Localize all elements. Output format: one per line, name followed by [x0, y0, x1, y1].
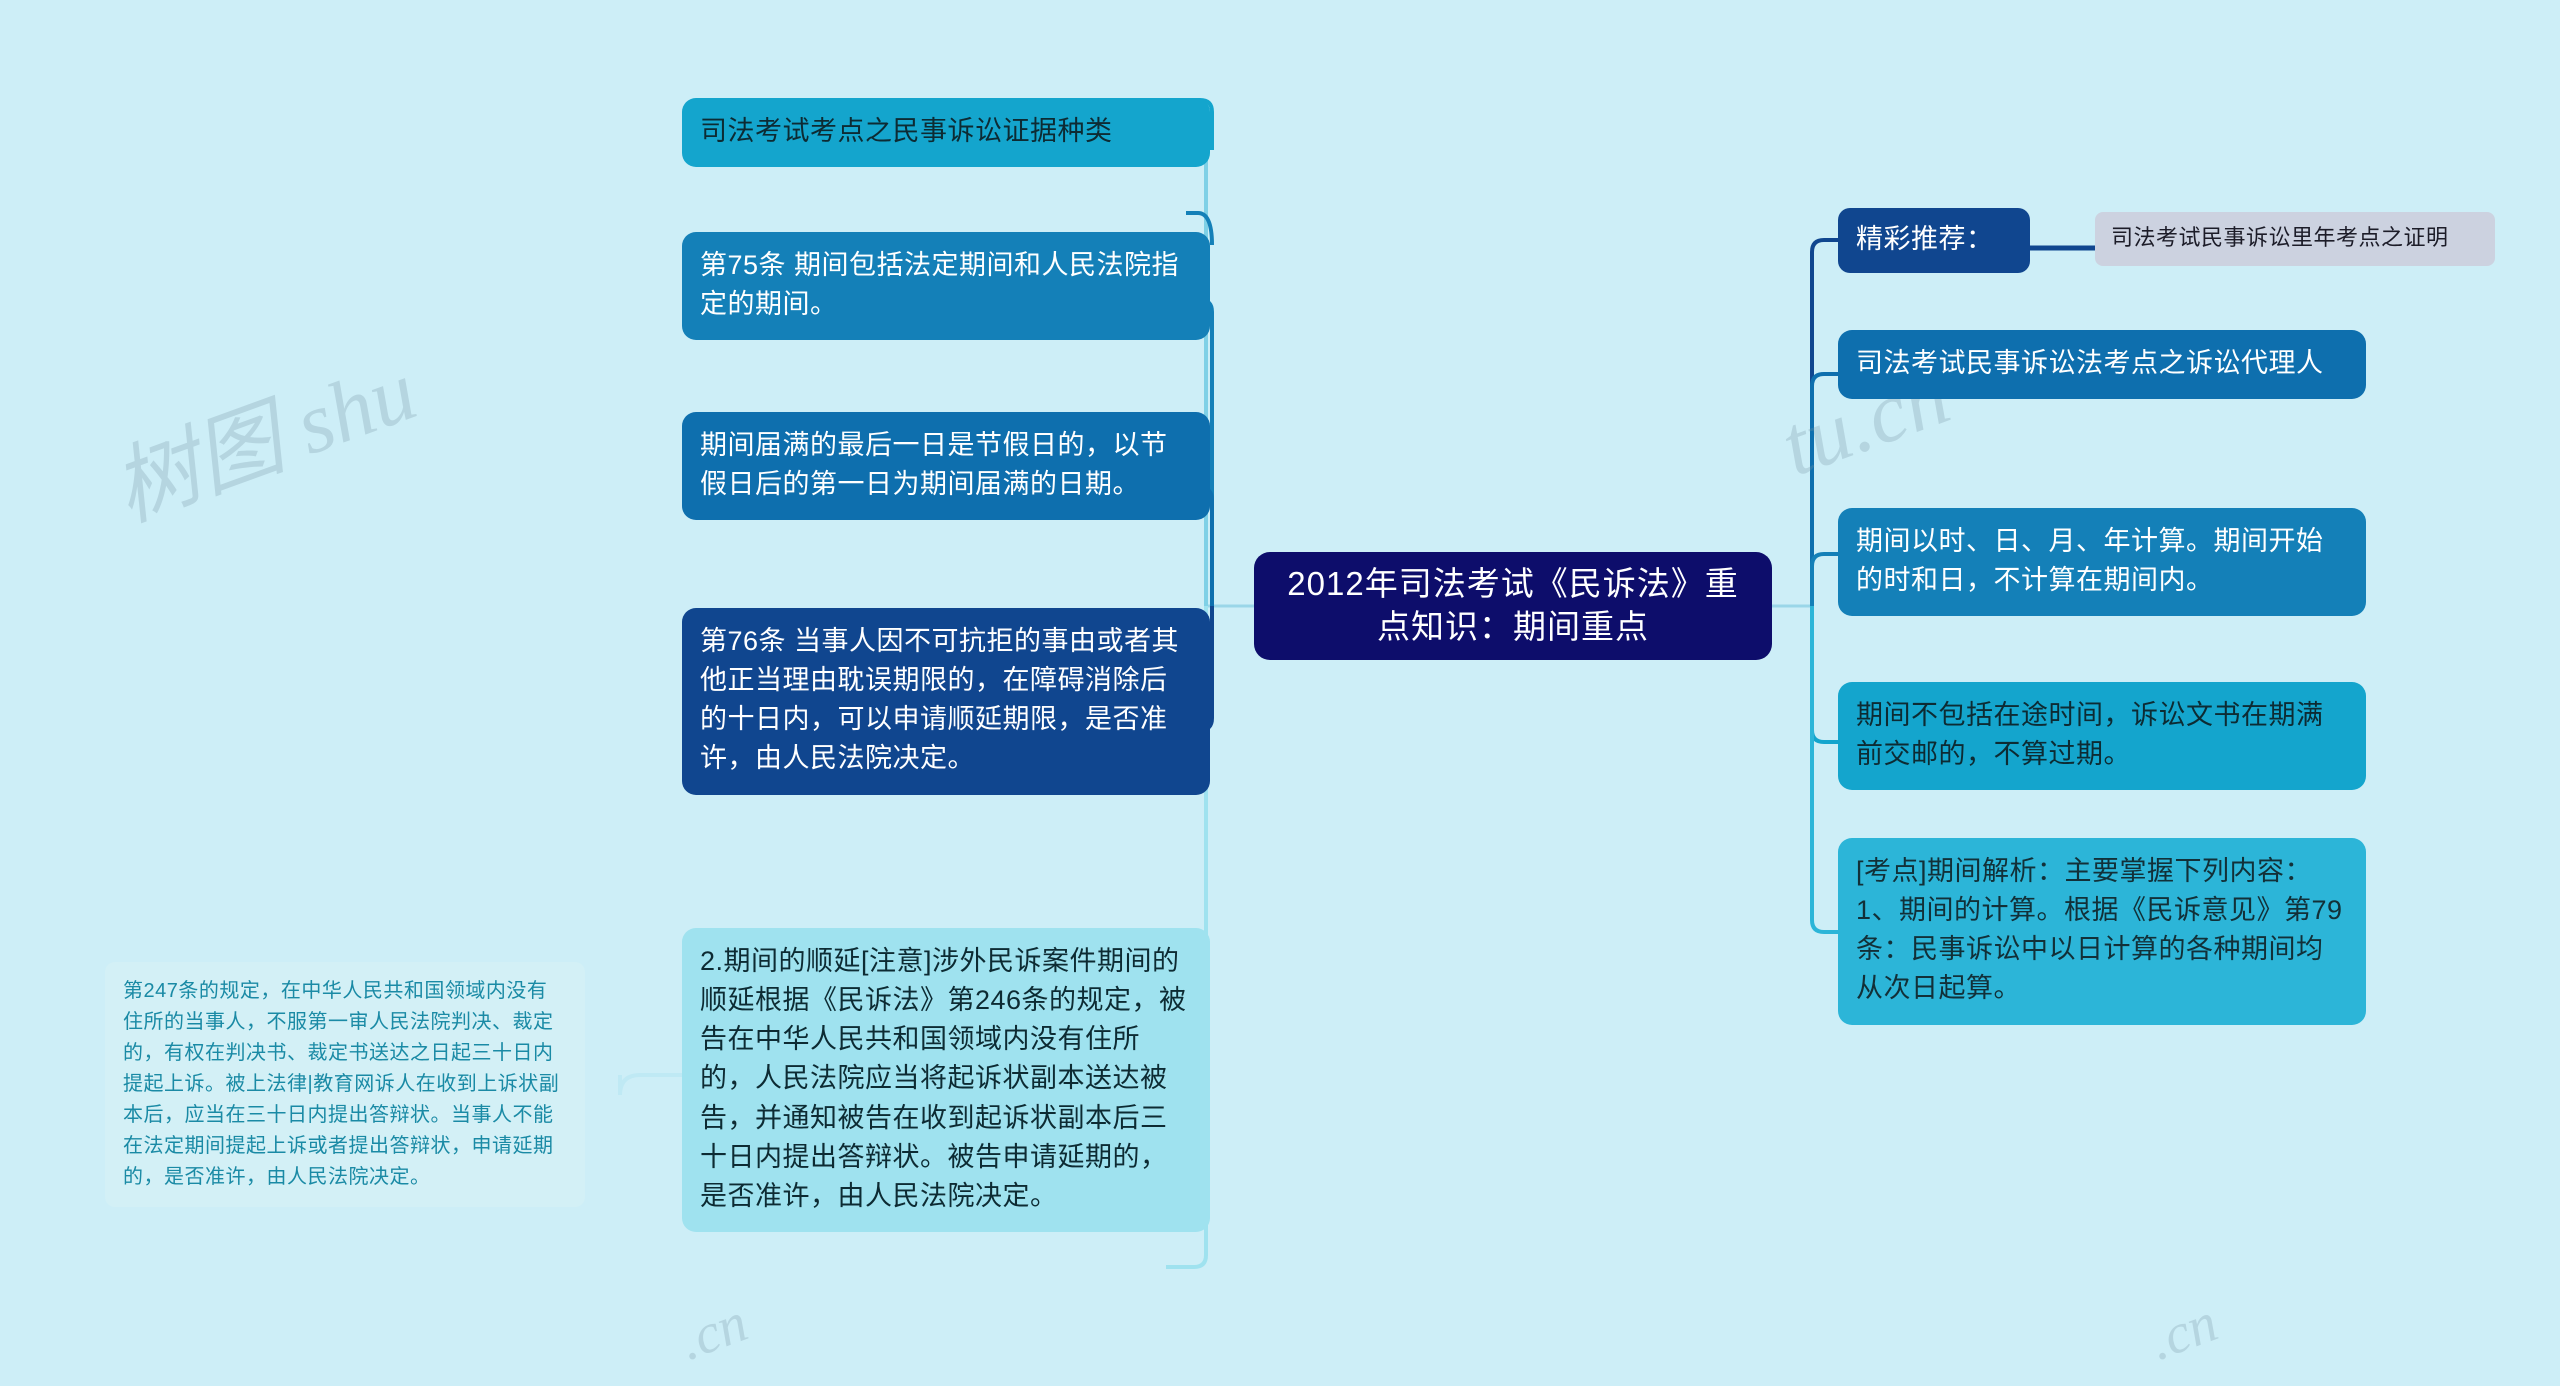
left-node-4[interactable]: 第76条 当事人因不可抗拒的事由或者其他正当理由耽误期限的，在障碍消除后的十日内… [682, 608, 1210, 795]
connector-right-2 [1812, 554, 1838, 606]
right-node-4[interactable]: [考点]期间解析：主要掌握下列内容：1、期间的计算。根据《民诉意见》第79条：民… [1838, 838, 2366, 1025]
connector-right-0 [1812, 240, 1838, 606]
connector-left-5-to-6 [620, 1075, 682, 1095]
right-node-1[interactable]: 司法考试民事诉讼法考点之诉讼代理人 [1838, 330, 2366, 399]
watermark-bottom-right: .cn [2141, 1290, 2226, 1373]
watermark-bottom-left: .cn [671, 1290, 756, 1373]
recommend-node[interactable]: 精彩推荐： [1838, 208, 2030, 273]
right-node-2[interactable]: 期间以时、日、月、年计算。期间开始的时和日，不计算在期间内。 [1838, 508, 2366, 616]
left-node-5[interactable]: 2.期间的顺延[注意]涉外民诉案件期间的顺延根据《民诉法》第246条的规定，被告… [682, 928, 1210, 1232]
recommend-link-node[interactable]: 司法考试民事诉讼里年考点之证明 [2095, 212, 2495, 266]
connector-left-trunk-upper [1166, 128, 1206, 606]
left-node-3[interactable]: 期间届满的最后一日是节假日的，以节假日后的第一日为期间届满的日期。 [682, 412, 1210, 520]
watermark-left: 树图 shu [93, 320, 430, 545]
connector-right-3 [1812, 606, 1838, 742]
left-node-1[interactable]: 司法考试考点之民事诉讼证据种类 [682, 98, 1210, 167]
root-node[interactable]: 2012年司法考试《民诉法》重点知识：期间重点 [1254, 552, 1772, 660]
left-node-6-detail[interactable]: 第247条的规定，在中华人民共和国领域内没有住所的当事人，不服第一审人民法院判决… [105, 962, 585, 1207]
connector-right-4 [1812, 606, 1838, 932]
right-node-3[interactable]: 期间不包括在途时间，诉讼文书在期满前交邮的，不算过期。 [1838, 682, 2366, 790]
left-node-2[interactable]: 第75条 期间包括法定期间和人民法院指定的期间。 [682, 232, 1210, 340]
connector-right-1 [1812, 374, 1838, 606]
mindmap-canvas: 树图 shu tu.cn .cn .cn 2012年司法考试《民诉法》重点知识：… [0, 0, 2560, 1386]
